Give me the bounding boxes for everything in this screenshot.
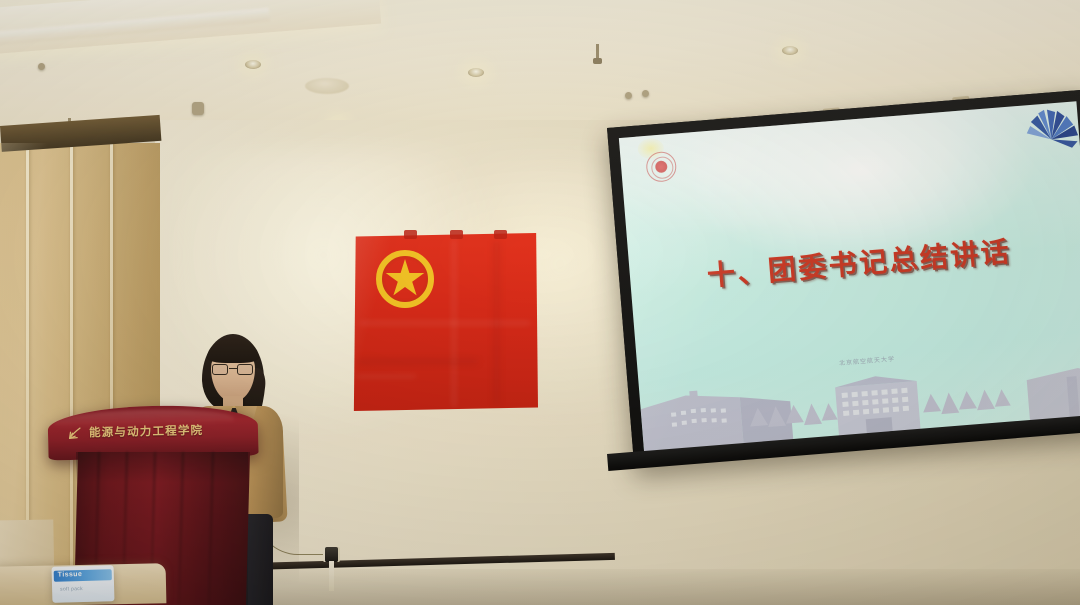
flag-fold-2 [360, 321, 530, 325]
projection-screen: 十、团委书记总结讲话 北京航空航天大学 [607, 90, 1080, 467]
slide-title: 十、团委书记总结讲话 [629, 224, 1080, 301]
tissue-box[interactable]: Tissue soft pack [52, 565, 115, 603]
ceiling-fixture-3 [625, 92, 632, 99]
presentation-slide: 十、团委书记总结讲话 北京航空航天大学 [619, 101, 1080, 453]
flag-tab-1 [404, 230, 417, 239]
flag-fold-4 [358, 359, 478, 364]
ceiling-sensor [192, 102, 204, 115]
flag-fold-3 [494, 241, 499, 405]
glasses-lens-right [237, 364, 253, 375]
ceiling-hanger-1 [596, 44, 599, 60]
socket-faceplate [329, 561, 334, 591]
podium-sign-text: 能源与动力工程学院 [89, 422, 204, 440]
podium-sign: 能源与动力工程学院 [66, 418, 246, 444]
star-in-ring-emblem [376, 250, 434, 308]
downlight-3 [782, 46, 798, 55]
downlight-2 [468, 68, 484, 77]
blue-leaf-decoration [1019, 103, 1080, 157]
tissue-sub-label: soft pack [60, 586, 83, 593]
beihang-sprout-logo [66, 424, 83, 441]
ceiling-fixture-1 [38, 63, 45, 70]
glasses-lens-left [212, 364, 228, 375]
communist-youth-league-flag [352, 233, 538, 411]
downlight-1 [245, 60, 261, 69]
glasses-bridge [229, 368, 237, 369]
glasses-icon [212, 364, 254, 375]
university-seal-core [655, 161, 668, 174]
wall-power-socket[interactable] [325, 547, 338, 562]
flag-fold-5 [356, 375, 416, 378]
tissue-brand-label: Tissue [58, 571, 83, 579]
ceiling-speaker [305, 78, 349, 94]
photo-scene: 十、团委书记总结讲话 北京航空航天大学 [0, 0, 1080, 605]
ceiling-fixture-2 [642, 90, 649, 97]
flag-tab-2 [450, 230, 463, 239]
university-seal-logo [645, 151, 677, 183]
flag-tab-3 [494, 230, 507, 239]
